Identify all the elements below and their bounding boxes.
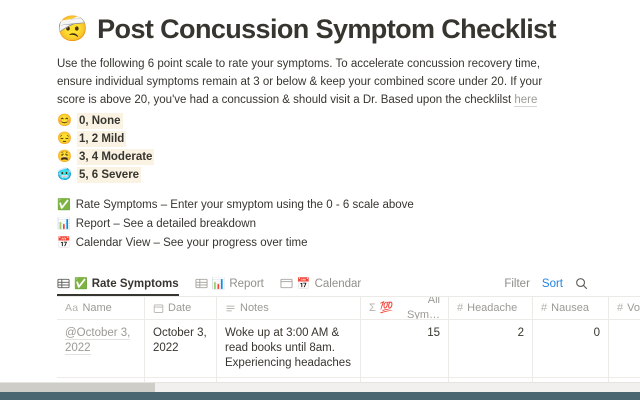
- cell-date[interactable]: October 3, 2022: [145, 320, 217, 377]
- action-item-text: Calendar View – See your progress over t…: [76, 235, 308, 252]
- cell-nausea[interactable]: 0: [533, 320, 609, 377]
- tab-label: Report: [229, 278, 264, 290]
- text-type-icon: Aa: [65, 301, 78, 316]
- here-link[interactable]: here: [514, 94, 537, 107]
- column-header-label: Headache: [467, 301, 517, 316]
- tab-label: Calendar: [315, 278, 362, 290]
- scale-item: 😊 0, None: [57, 112, 123, 129]
- column-header-nausea[interactable]: # Nausea: [533, 297, 609, 319]
- scale-item-label: 0, None: [77, 113, 123, 129]
- column-header-name[interactable]: Aa Name: [57, 297, 145, 319]
- column-header-label: All Sym…: [398, 297, 440, 319]
- bar-chart-icon: 📊: [57, 216, 71, 233]
- cell-name[interactable]: @October 3, 2022: [57, 320, 145, 377]
- table-row[interactable]: @October 3, 2022 October 3, 2022 Woke up…: [57, 320, 640, 378]
- calendar-icon: 📅: [57, 235, 71, 252]
- column-header-label: Notes: [240, 301, 269, 316]
- toolbar-actions: Filter Sort: [504, 277, 588, 290]
- column-header-label: Nausea: [551, 301, 589, 316]
- date-mention[interactable]: @October 3, 2022: [65, 327, 130, 355]
- sigma-icon: Σ: [369, 303, 376, 314]
- scale-item: 😔 1, 2 Mild: [57, 130, 126, 147]
- notion-page: 🤕 Post Concussion Symptom Checklist Use …: [0, 0, 640, 382]
- column-header-vomiting[interactable]: # Vomi: [609, 297, 640, 319]
- filter-button[interactable]: Filter: [504, 278, 530, 290]
- head-bandage-icon: 🤕: [57, 17, 88, 42]
- scale-item-label: 1, 2 Mild: [77, 131, 126, 147]
- cell-headache[interactable]: 2: [449, 320, 533, 377]
- calendar-type-icon: [153, 303, 164, 314]
- view-tabs: ✅ Rate Symptoms 📊 Report: [57, 271, 361, 296]
- sort-button[interactable]: Sort: [542, 278, 563, 290]
- action-list: ✅ Rate Symptoms – Enter your smyptom usi…: [57, 197, 640, 252]
- number-type-icon: #: [541, 303, 547, 314]
- action-item-calendar-view: 📅 Calendar View – See your progress over…: [57, 235, 640, 252]
- window-bottom-bar: [0, 392, 640, 400]
- intro-text: Use the following 6 point scale to rate …: [57, 58, 542, 106]
- column-header-label: Vomi: [627, 301, 640, 316]
- symptom-scale-list: 😊 0, None 😔 1, 2 Mild 😩 3, 4 Moderate 🥶 …: [57, 112, 640, 183]
- cell-notes[interactable]: Woke up at 3:00 AM & read books until 8a…: [217, 320, 361, 377]
- text-lines-icon: [225, 303, 236, 314]
- calendar-icon: 📅: [297, 277, 311, 290]
- cell-all-symptoms[interactable]: 15: [361, 320, 449, 377]
- action-item-text: Report – See a detailed breakdown: [76, 216, 256, 233]
- column-header-label: Date: [168, 301, 191, 316]
- sad-face-icon: 😔: [57, 130, 72, 146]
- database-toolbar: ✅ Rate Symptoms 📊 Report: [57, 271, 640, 296]
- number-type-icon: #: [617, 303, 623, 314]
- bar-chart-icon: 📊: [212, 277, 226, 290]
- scale-item: 🥶 5, 6 Severe: [57, 166, 141, 183]
- horizontal-scrollbar[interactable]: [0, 382, 640, 392]
- tab-report[interactable]: 📊 Report: [195, 271, 264, 296]
- page-title-text: Post Concussion Symptom Checklist: [97, 14, 556, 45]
- search-icon[interactable]: [575, 277, 588, 290]
- scale-item-label: 5, 6 Severe: [77, 167, 141, 183]
- intro-paragraph: Use the following 6 point scale to rate …: [57, 55, 557, 109]
- action-item-text: Rate Symptoms – Enter your smyptom using…: [76, 197, 414, 214]
- check-mark-icon: ✅: [57, 197, 71, 214]
- smiling-face-icon: 😊: [57, 112, 72, 128]
- number-type-icon: #: [457, 303, 463, 314]
- column-header-label: Name: [82, 301, 111, 316]
- cell-vomiting[interactable]: [609, 320, 640, 377]
- column-header-date[interactable]: Date: [145, 297, 217, 319]
- hundred-points-icon: 💯: [380, 303, 394, 314]
- board-view-icon: [280, 277, 293, 290]
- database-block: ✅ Rate Symptoms 📊 Report: [57, 271, 640, 382]
- table-view-icon: [57, 277, 70, 290]
- page-title: 🤕 Post Concussion Symptom Checklist: [57, 14, 640, 45]
- scale-item-label: 3, 4 Moderate: [77, 149, 155, 165]
- column-header-headache[interactable]: # Headache: [449, 297, 533, 319]
- tab-rate-symptoms[interactable]: ✅ Rate Symptoms: [57, 271, 179, 296]
- database-table: Aa Name Date: [57, 296, 640, 382]
- cold-face-icon: 🥶: [57, 166, 72, 182]
- check-mark-icon: ✅: [74, 277, 88, 290]
- horizontal-scrollbar-thumb[interactable]: [0, 383, 155, 392]
- table-view-icon: [195, 277, 208, 290]
- tab-calendar[interactable]: 📅 Calendar: [280, 271, 361, 296]
- weary-face-icon: 😩: [57, 148, 72, 164]
- column-header-notes[interactable]: Notes: [217, 297, 361, 319]
- action-item-rate-symptoms: ✅ Rate Symptoms – Enter your smyptom usi…: [57, 197, 640, 214]
- tab-label: Rate Symptoms: [92, 278, 179, 290]
- column-header-all-symptoms[interactable]: Σ 💯 All Sym…: [361, 297, 449, 319]
- page-content: 🤕 Post Concussion Symptom Checklist Use …: [0, 0, 640, 382]
- table-header-row: Aa Name Date: [57, 297, 640, 320]
- scale-item: 😩 3, 4 Moderate: [57, 148, 154, 165]
- action-item-report: 📊 Report – See a detailed breakdown: [57, 216, 640, 233]
